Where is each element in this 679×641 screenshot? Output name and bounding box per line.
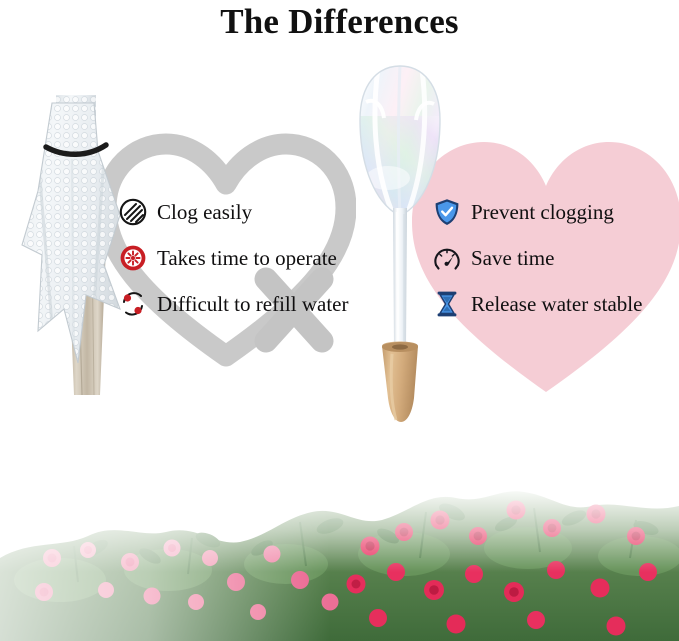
list-item: Clog easily [118, 189, 370, 235]
list-item-label: Prevent clogging [471, 201, 614, 223]
list-item: Save time [432, 235, 672, 281]
infographic-canvas: The Differences [0, 0, 679, 641]
refill-cycle-icon [118, 289, 148, 319]
list-item-label: Difficult to refill water [157, 293, 348, 315]
list-item-label: Takes time to operate [157, 247, 337, 269]
rose-garden-photo [0, 462, 679, 641]
hourglass-icon [432, 289, 462, 319]
list-item: Takes time to operate [118, 235, 370, 281]
benefit-list: Prevent clogging Save time [432, 189, 672, 327]
list-item-label: Clog easily [157, 201, 252, 223]
list-item: Difficult to refill water [118, 281, 370, 327]
speedometer-icon [432, 243, 462, 273]
list-item: Prevent clogging [432, 189, 672, 235]
list-item-label: Save time [471, 247, 554, 269]
list-item: Release water stable [432, 281, 672, 327]
list-item-label: Release water stable [471, 293, 642, 315]
timer-wheel-icon [118, 243, 148, 273]
drawback-list: Clog easily [118, 189, 370, 327]
page-title: The Differences [0, 2, 679, 42]
shield-check-icon [432, 197, 462, 227]
clog-circle-icon [118, 197, 148, 227]
